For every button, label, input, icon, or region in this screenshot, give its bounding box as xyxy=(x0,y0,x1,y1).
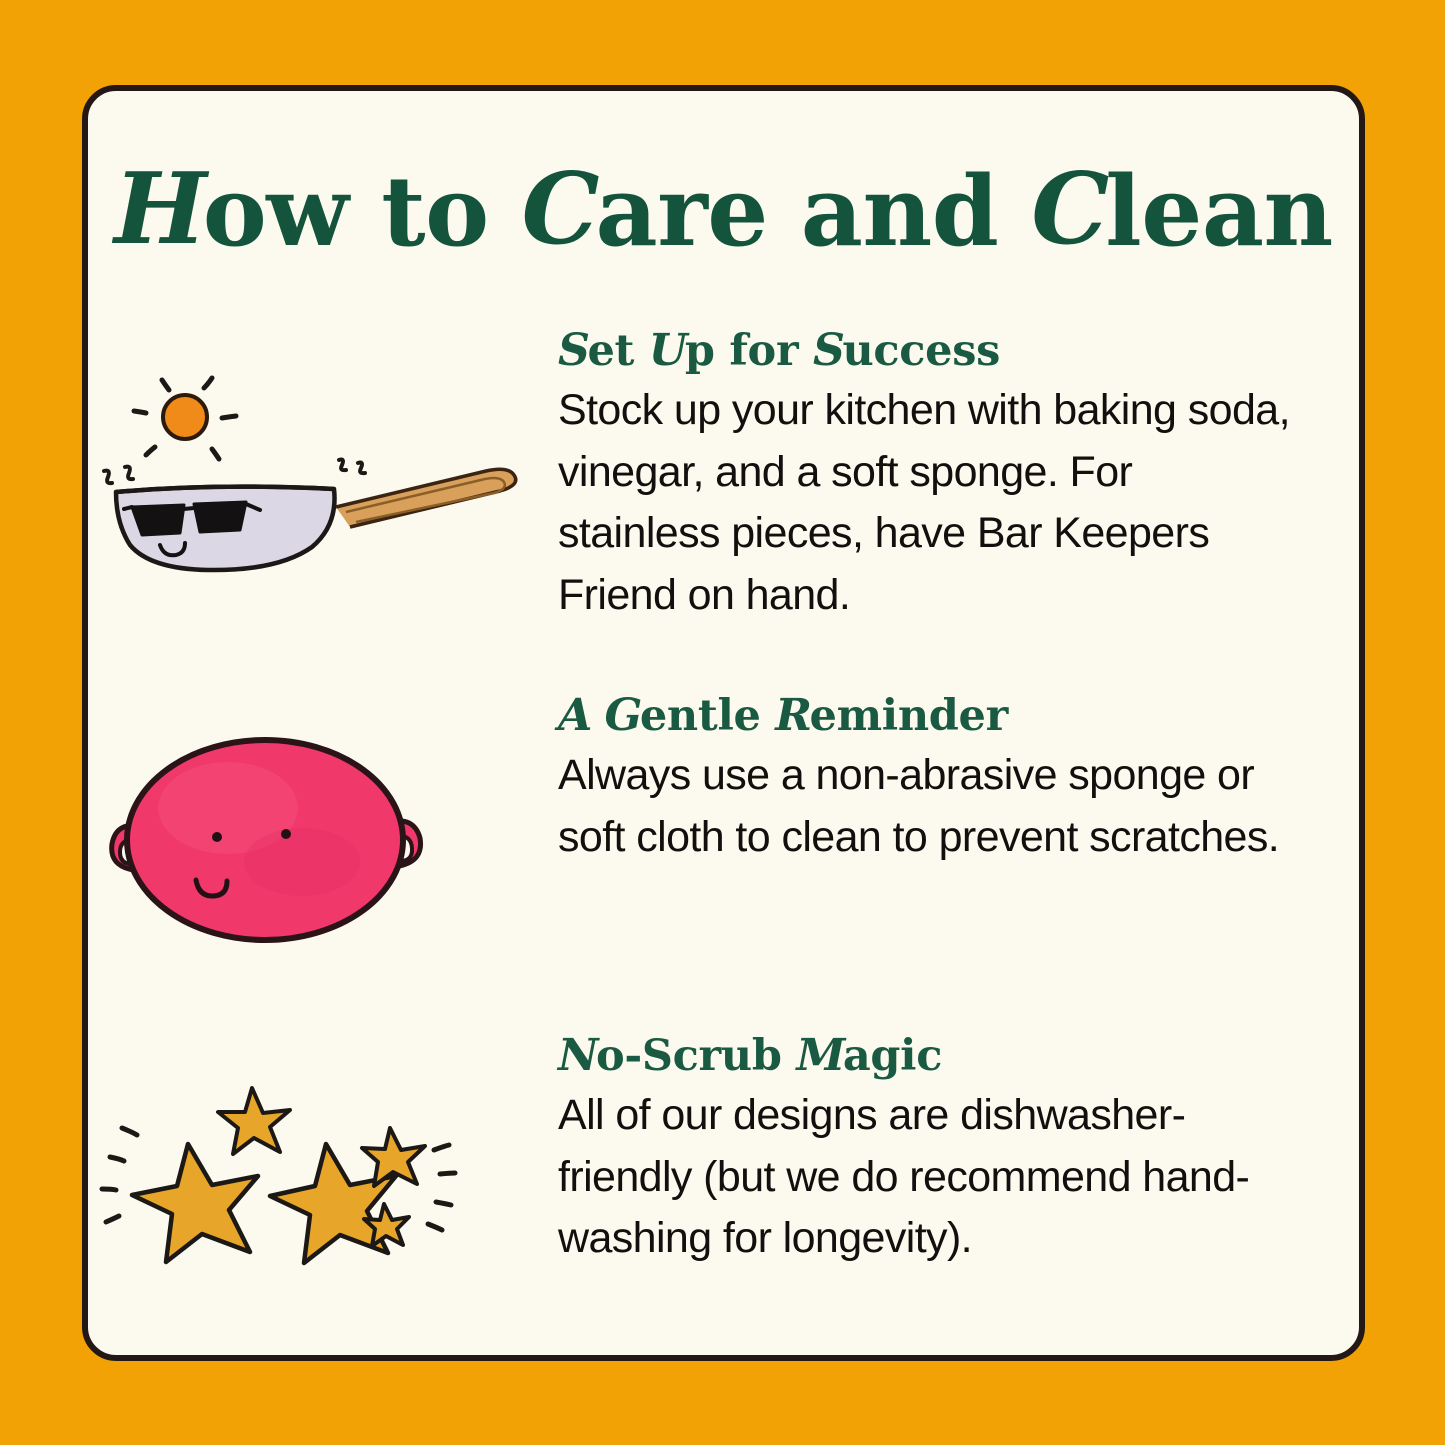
section-2-body: Always use a non-abrasive sponge or soft… xyxy=(558,745,1298,868)
pink-sponge-face-icon xyxy=(88,716,558,966)
care-instructions-card: How to Care and Clean xyxy=(82,85,1365,1361)
swash-capital: N xyxy=(558,1032,596,1079)
section-1-copy: Set Up for Success Stock up your kitchen… xyxy=(558,327,1359,626)
section-2-copy: A Gentle Reminder Always use a non-abras… xyxy=(558,688,1359,868)
swash-capital: A xyxy=(558,692,590,739)
swash-capital: C xyxy=(522,161,596,259)
stars-illustration xyxy=(88,1064,558,1314)
stars-illustration-section: No-Scrub Magic All of our designs are di… xyxy=(88,1028,1359,1314)
section-1-heading: Set Up for Success xyxy=(558,327,1309,374)
poster-canvas: How to Care and Clean xyxy=(0,0,1445,1445)
section-3-body: All of our designs are dishwasher-friend… xyxy=(558,1085,1298,1269)
swash-capital: G xyxy=(605,692,640,739)
section-3-heading: No-Scrub Magic xyxy=(558,1032,1309,1079)
sponge-illustration xyxy=(88,716,558,966)
swash-capital: U xyxy=(649,327,685,374)
swash-capital: S xyxy=(813,327,842,374)
swash-capital: S xyxy=(558,327,587,374)
swash-capital: M xyxy=(796,1032,843,1079)
section-1-body: Stock up your kitchen with baking soda, … xyxy=(558,380,1298,626)
pan-illustration xyxy=(88,349,558,599)
sparkling-stars-icon xyxy=(88,1064,558,1314)
section-a-gentle-reminder: A Gentle Reminder Always use a non-abras… xyxy=(88,688,1359,966)
swash-capital: H xyxy=(114,161,203,259)
sections-list: Set Up for Success Stock up your kitchen… xyxy=(88,327,1359,1314)
swash-capital: C xyxy=(1031,161,1105,259)
section-set-up-for-success: Set Up for Success Stock up your kitchen… xyxy=(88,327,1359,626)
section-3-copy: No-Scrub Magic All of our designs are di… xyxy=(558,1028,1359,1270)
page-title-text: How to Care and Clean xyxy=(114,155,1333,268)
frying-pan-with-sunglasses-and-sun-icon xyxy=(88,349,558,599)
section-2-heading: A Gentle Reminder xyxy=(558,692,1309,739)
page-title: How to Care and Clean xyxy=(88,163,1359,261)
swash-capital: R xyxy=(775,692,809,739)
